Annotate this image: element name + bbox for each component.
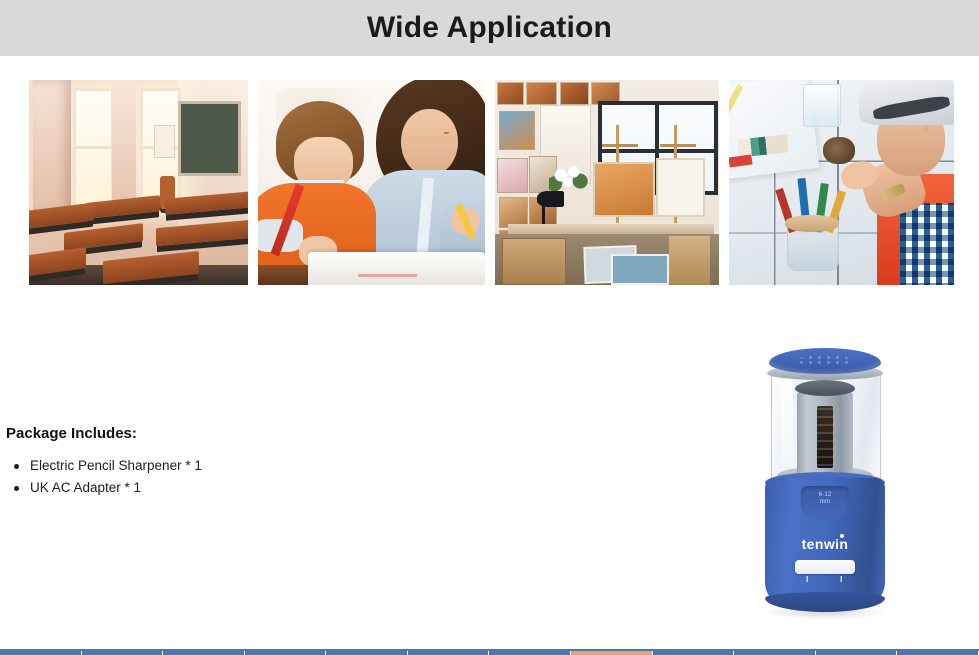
footer-thumb[interactable] xyxy=(245,651,327,655)
pencil-size-line1: 6-12 xyxy=(819,492,832,498)
gallery-image-art-studio xyxy=(495,80,719,285)
homework-illustration xyxy=(258,80,485,285)
pencil-size-line2: mm xyxy=(820,499,830,505)
footer-thumb[interactable] xyxy=(0,651,82,655)
water-glass-icon xyxy=(803,84,841,127)
blueprint-illustration xyxy=(729,80,954,285)
blank-canvas-icon xyxy=(656,158,705,217)
bullet-icon xyxy=(14,486,19,491)
footer-thumb[interactable] xyxy=(734,651,816,655)
power-button[interactable] xyxy=(795,560,855,574)
package-includes-list: Electric Pencil Sharpener * 1 UK AC Adap… xyxy=(6,456,526,498)
gallery-image-homework xyxy=(258,80,485,285)
page-title: Wide Application xyxy=(367,13,612,43)
footer-thumb[interactable] xyxy=(816,651,898,655)
footer-thumb[interactable] xyxy=(326,651,408,655)
package-includes-heading: Package Includes: xyxy=(6,425,526,442)
painting-canvas-icon xyxy=(593,162,655,217)
footer-thumbnail-strip xyxy=(0,651,979,655)
notebook-icon xyxy=(308,252,485,285)
bullet-icon xyxy=(14,464,19,469)
footer-thumb[interactable] xyxy=(163,651,245,655)
application-gallery xyxy=(29,80,954,285)
pencil-size-label: 6-12 mm xyxy=(801,492,849,506)
footer-thumb[interactable] xyxy=(408,651,490,655)
footer-thumb[interactable] xyxy=(897,651,979,655)
footer-thumb[interactable] xyxy=(653,651,735,655)
list-item: Electric Pencil Sharpener * 1 xyxy=(6,456,526,476)
list-item: UK AC Adapter * 1 xyxy=(6,478,526,498)
chalkboard-icon xyxy=(178,101,241,177)
art-studio-illustration xyxy=(495,80,719,285)
classroom-illustration xyxy=(29,80,248,285)
product-brand-label: tenwin xyxy=(765,536,885,552)
gallery-image-classroom xyxy=(29,80,248,285)
pinecone-icon xyxy=(823,137,855,164)
footer-thumb[interactable] xyxy=(82,651,164,655)
footer-thumb[interactable] xyxy=(489,651,571,655)
footer-thumb-active[interactable] xyxy=(571,651,653,655)
list-item-label: Electric Pencil Sharpener * 1 xyxy=(30,458,202,473)
product-image-sharpener: 6-12 mm tenwin xyxy=(755,348,895,620)
package-includes-section: Package Includes: Electric Pencil Sharpe… xyxy=(6,425,526,500)
flower-vase-icon xyxy=(549,162,589,195)
list-item-label: UK AC Adapter * 1 xyxy=(30,480,141,495)
section-header-band: Wide Application xyxy=(0,0,979,56)
gallery-image-blueprints xyxy=(729,80,954,285)
